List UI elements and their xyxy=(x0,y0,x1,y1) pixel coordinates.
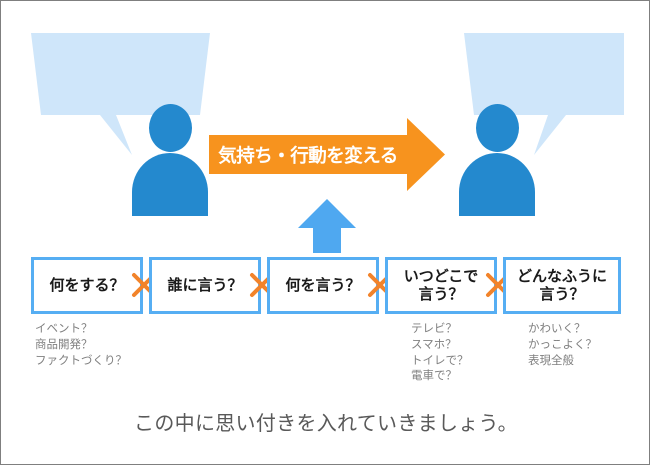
question-box-2-label: 誰に言う？ xyxy=(164,277,245,295)
question-box-5[interactable]: どんなふうに 言う？ xyxy=(503,257,621,314)
diagram-canvas: 気持ち・行動を変える 何をする？ 誰に言う？ 何を言う？ xyxy=(0,0,650,465)
question-box-4-sublist: テレビ？ スマホ？ トイレで？ 電車で？ xyxy=(411,322,469,385)
person-silhouette-left xyxy=(132,104,208,216)
question-box-4-label: いつどこで 言う？ xyxy=(401,268,482,303)
person-silhouette-right xyxy=(459,104,535,216)
change-arrow: 気持ち・行動を変える xyxy=(209,118,445,191)
person-body-icon xyxy=(459,153,535,216)
question-box-3[interactable]: 何を言う？ xyxy=(267,257,379,314)
person-body-icon xyxy=(132,153,208,216)
question-box-2[interactable]: 誰に言う？ xyxy=(149,257,261,314)
change-arrow-label: 気持ち・行動を変える xyxy=(209,118,407,191)
person-head-icon xyxy=(476,104,519,152)
question-box-1[interactable]: 何をする？ xyxy=(31,257,143,314)
person-head-icon xyxy=(149,104,192,152)
question-box-1-label: 何をする？ xyxy=(46,277,127,295)
up-arrow-icon xyxy=(298,199,356,253)
bottom-caption: この中に思い付きを入れていきましょう。 xyxy=(1,407,650,436)
question-box-3-label: 何を言う？ xyxy=(282,277,363,295)
question-box-1-sublist: イベント？ 商品開発？ ファクトづくり？ xyxy=(35,322,127,369)
up-arrow xyxy=(298,199,356,253)
question-box-5-label: どんなふうに 言う？ xyxy=(514,268,610,303)
question-box-4[interactable]: いつどこで 言う？ xyxy=(385,257,497,314)
question-box-row: 何をする？ 誰に言う？ 何を言う？ いつ xyxy=(31,257,621,314)
question-box-5-sublist: かわいく？ かっこよく？ 表現全般 xyxy=(528,322,597,369)
